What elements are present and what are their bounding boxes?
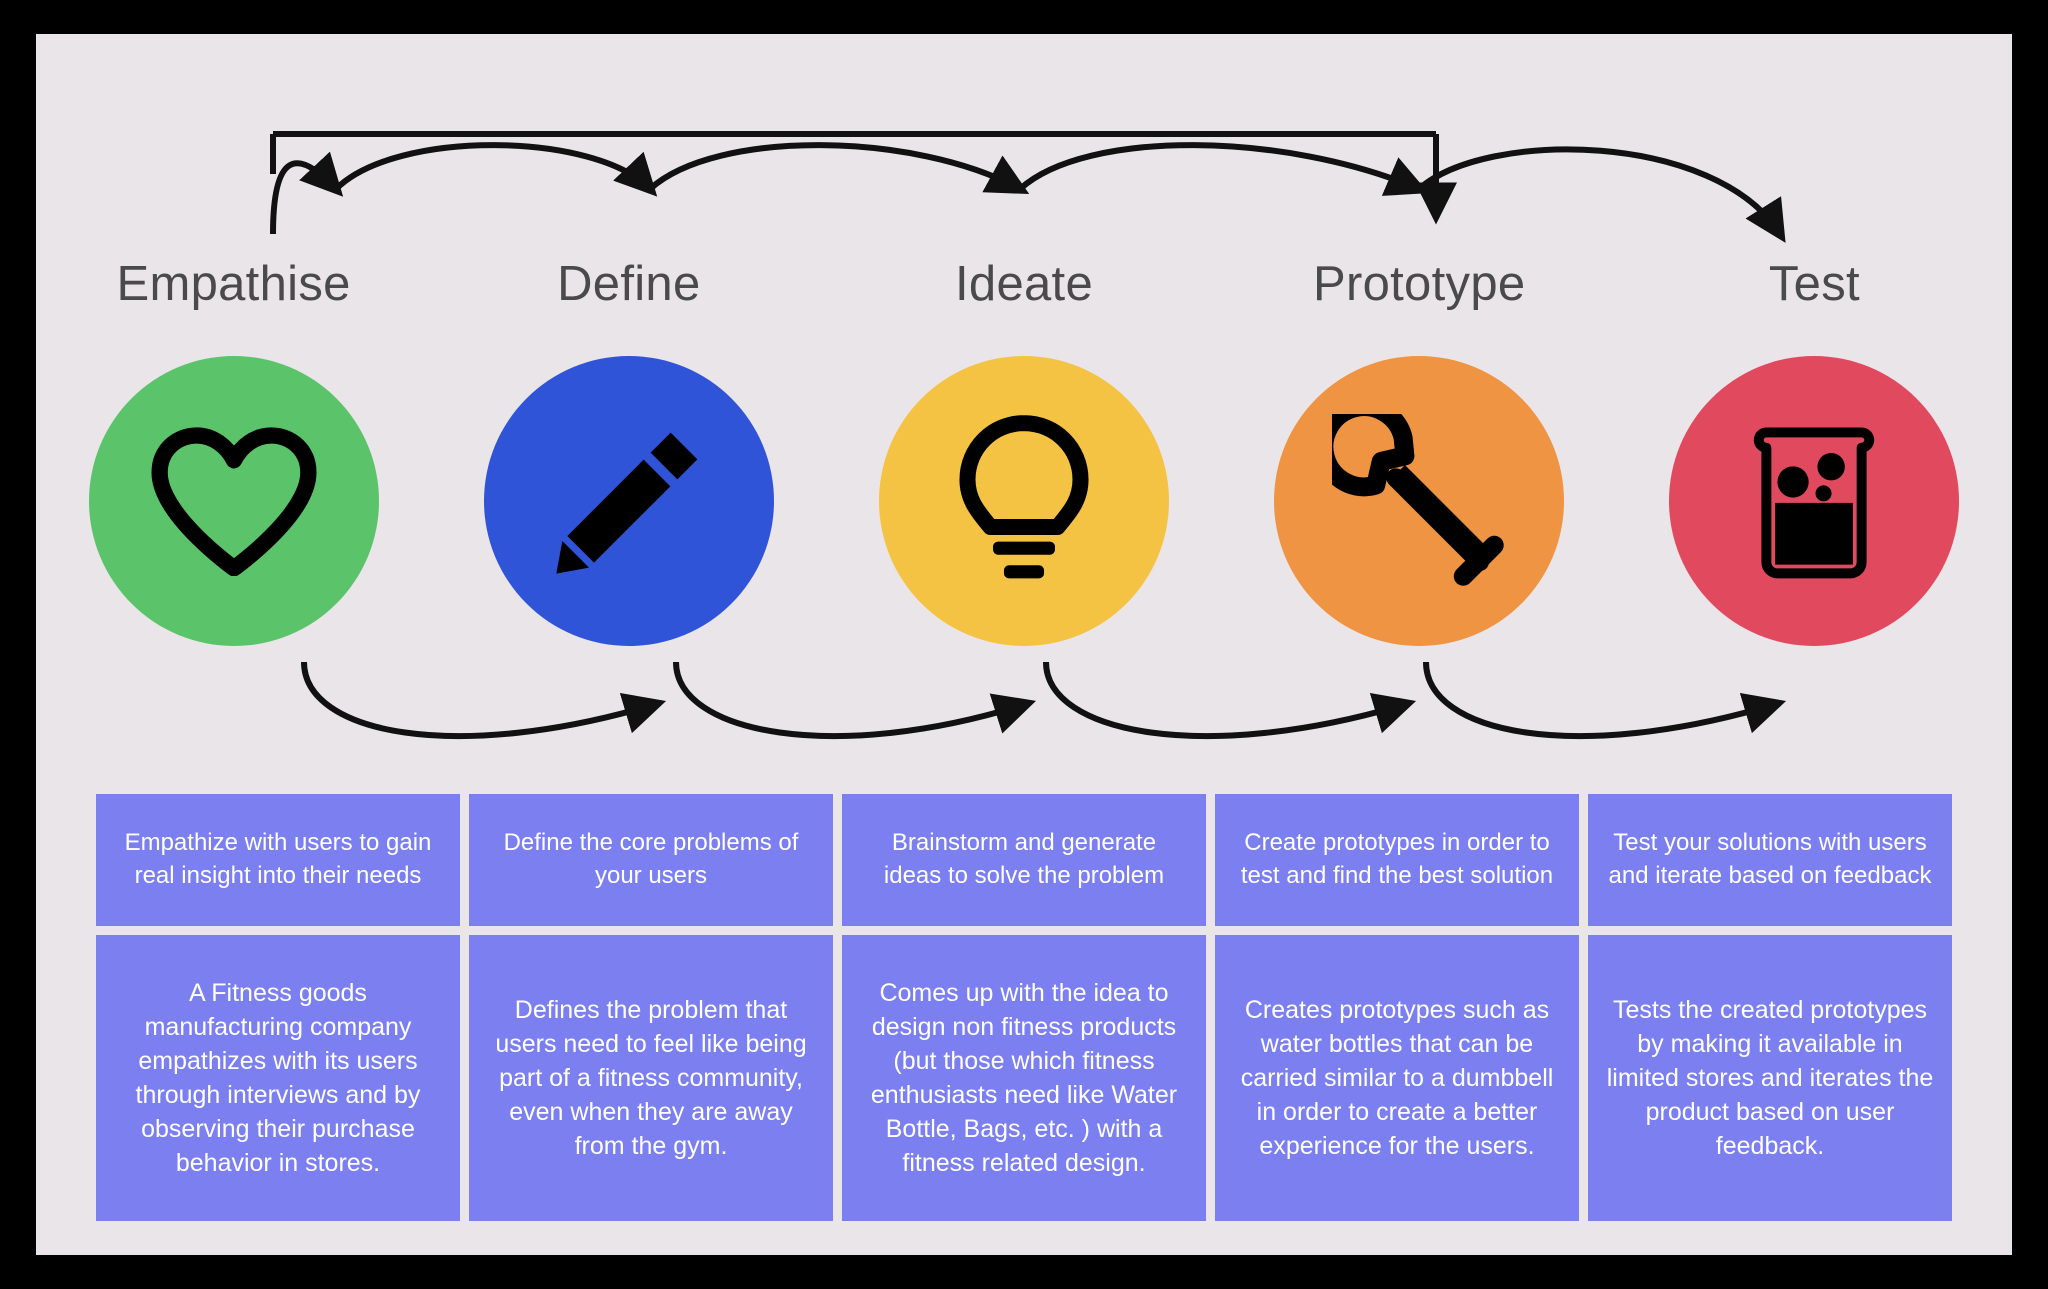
table-row-descriptions: Empathize with users to gain real insigh… (96, 794, 1952, 926)
example-cell-test: Tests the created prototypes by making i… (1588, 935, 1952, 1221)
example-cell-empathise: A Fitness goods manufacturing company em… (96, 935, 460, 1221)
stage-label-ideate: Ideate (826, 256, 1221, 312)
example-cell-ideate: Comes up with the idea to design non fit… (842, 935, 1206, 1221)
stage-label-empathise: Empathise (36, 256, 431, 312)
stage-label-prototype: Prototype (1222, 256, 1617, 312)
stage-circle-ideate[interactable] (879, 356, 1169, 646)
stage-circle-slot-prototype (1222, 356, 1617, 646)
stage-label-test: Test (1617, 256, 2012, 312)
description-cell-test: Test your solutions with users and itera… (1588, 794, 1952, 926)
diagram-canvas: Empathise Define Ideate Prototype Test (36, 34, 2012, 1255)
description-cell-empathise: Empathize with users to gain real insigh… (96, 794, 460, 926)
stage-circle-slot-define (431, 356, 826, 646)
stage-label-define: Define (431, 256, 826, 312)
example-cell-define: Defines the problem that users need to f… (469, 935, 833, 1221)
iteration-arrows (36, 654, 2012, 814)
heart-icon (149, 426, 319, 576)
stage-labels-row: Empathise Define Ideate Prototype Test (36, 256, 2012, 312)
stage-circle-slot-empathise (36, 356, 431, 646)
stage-circles-row (36, 356, 2012, 646)
stage-circle-empathise[interactable] (89, 356, 379, 646)
stage-circle-define[interactable] (484, 356, 774, 646)
stage-circle-test[interactable] (1669, 356, 1959, 646)
stage-circle-prototype[interactable] (1274, 356, 1564, 646)
stage-circle-slot-test (1617, 356, 2012, 646)
table-row-examples: A Fitness goods manufacturing company em… (96, 935, 1952, 1221)
description-cell-define: Define the core problems of your users (469, 794, 833, 926)
description-cell-prototype: Create prototypes in order to test and f… (1215, 794, 1579, 926)
forward-flow-arrows (36, 94, 2012, 274)
stage-circle-slot-ideate (826, 356, 1221, 646)
lightbulb-icon (949, 414, 1099, 589)
pencil-icon (549, 421, 709, 581)
example-cell-prototype: Creates prototypes such as water bottles… (1215, 935, 1579, 1221)
description-cell-ideate: Brainstorm and generate ideas to solve t… (842, 794, 1206, 926)
beaker-icon (1749, 421, 1879, 581)
wrench-icon (1332, 414, 1507, 589)
stage-detail-table: Empathize with users to gain real insigh… (96, 794, 1952, 1221)
